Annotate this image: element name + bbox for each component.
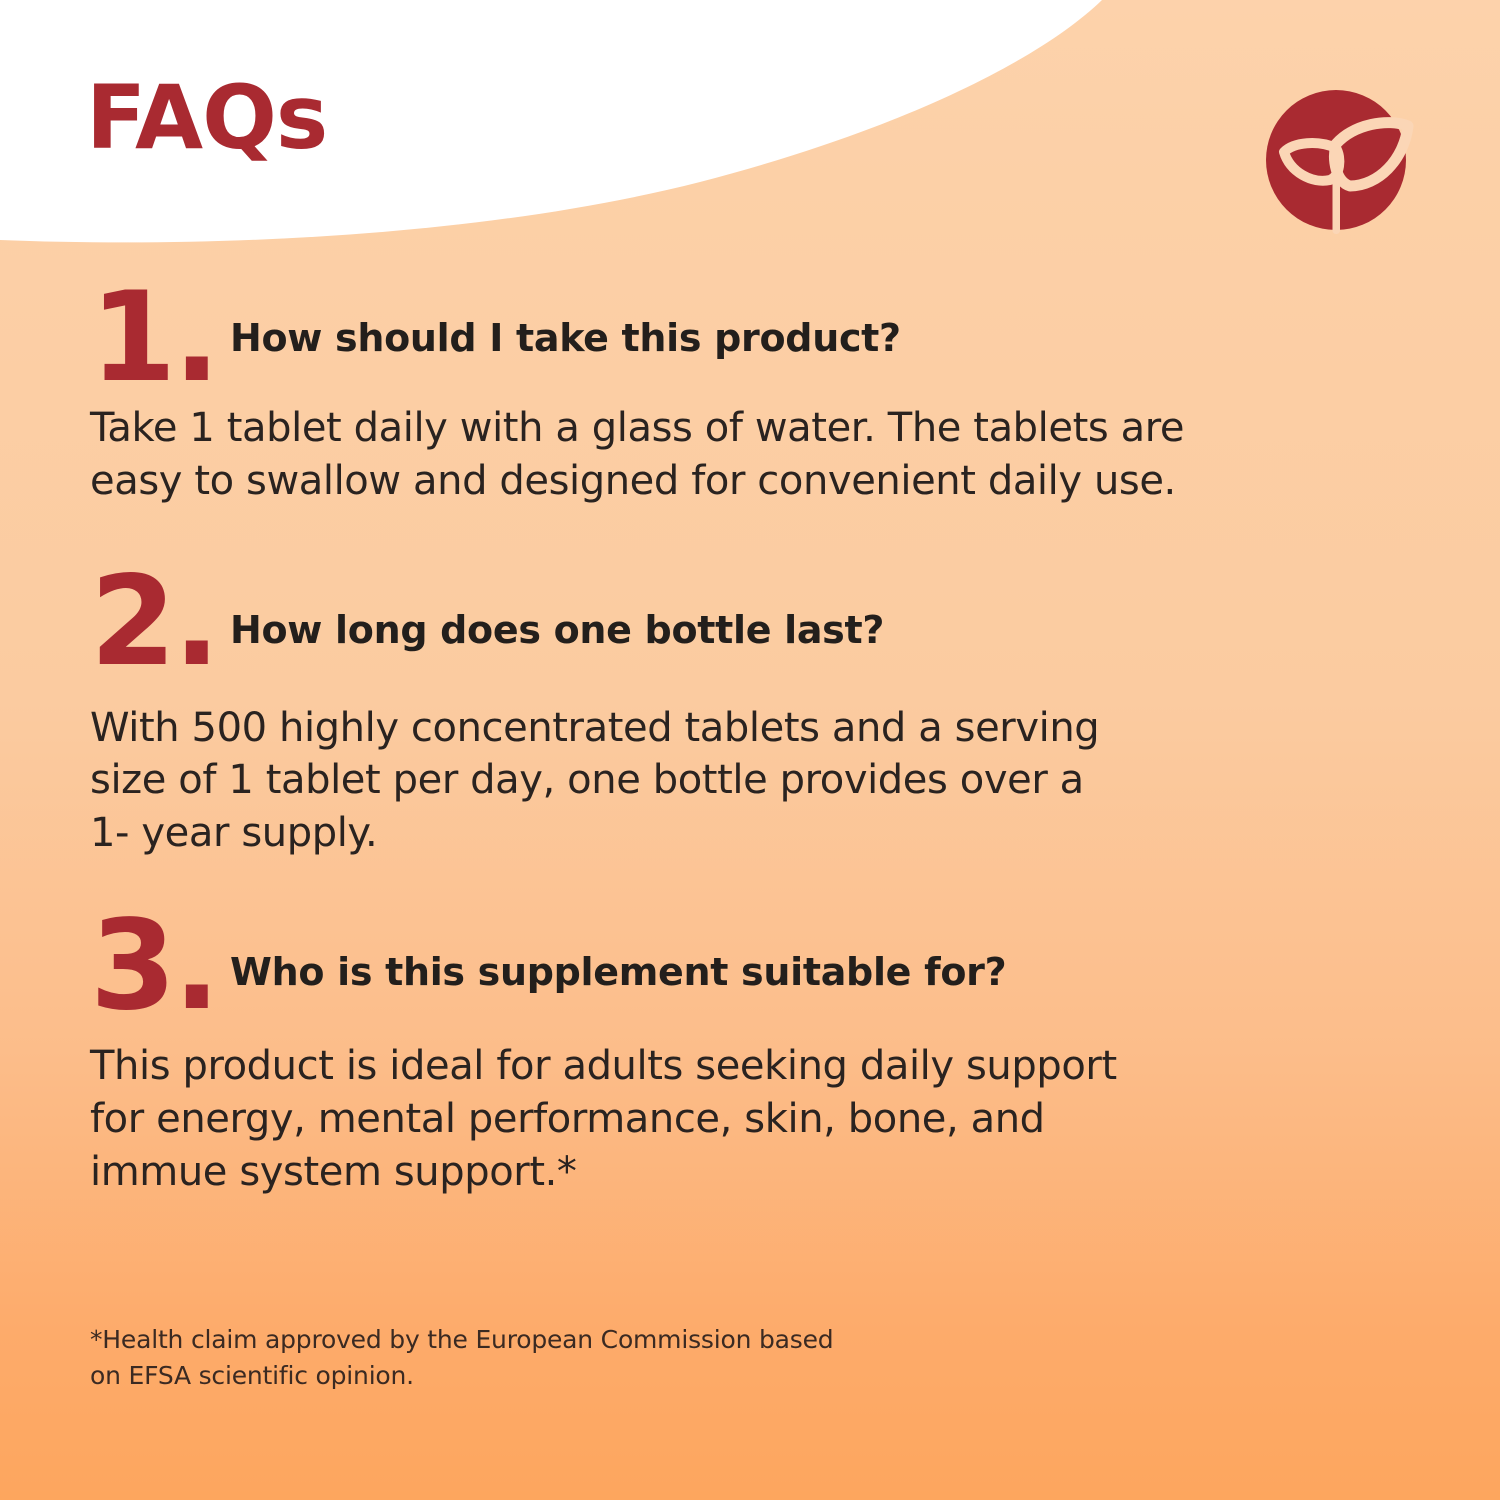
faq-heading: 1. How should I take this product? [90, 276, 1500, 396]
sprout-leaf-icon [1262, 86, 1414, 238]
faq-number: 2. [90, 560, 217, 684]
faq-question: How long does one bottle last? [230, 610, 884, 652]
faq-item: 2. How long does one bottle last? With 5… [0, 560, 1500, 860]
faq-answer: With 500 highly concentrated tablets and… [90, 702, 1305, 860]
faq-heading: 2. How long does one bottle last? [90, 560, 1500, 680]
faq-item: 3. Who is this supplement suitable for? … [0, 904, 1500, 1198]
faq-list: 1. How should I take this product? Take … [0, 276, 1500, 1238]
footnote-disclaimer: *Health claim approved by the European C… [90, 1322, 833, 1393]
faq-heading: 3. Who is this supplement suitable for? [90, 904, 1500, 1024]
faq-question: How should I take this product? [230, 318, 901, 360]
faq-number: 3. [90, 904, 217, 1028]
faq-item: 1. How should I take this product? Take … [0, 276, 1500, 508]
faq-number: 1. [90, 276, 217, 400]
faq-poster: FAQs 1. How should I take this product? … [0, 0, 1500, 1500]
page-title: FAQs [86, 74, 327, 162]
faq-question: Who is this supplement suitable for? [230, 952, 1006, 994]
faq-answer: This product is ideal for adults seeking… [90, 1040, 1305, 1198]
faq-answer: Take 1 tablet daily with a glass of wate… [90, 402, 1305, 508]
